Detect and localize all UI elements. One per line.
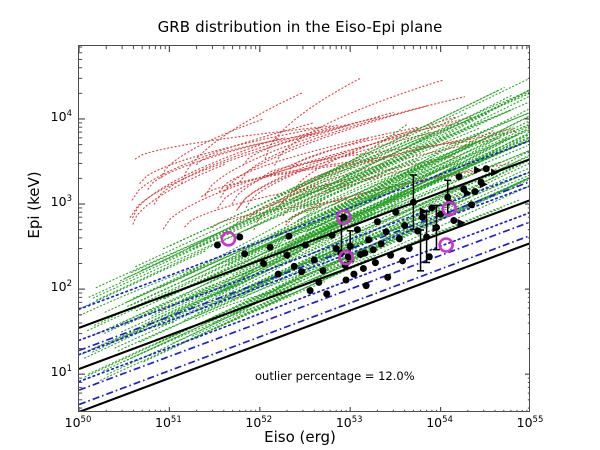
y-tick-label-4: 104 (0, 109, 72, 124)
x-axis-title: Eiso (erg) (0, 428, 600, 446)
y-tick-label-1: 101 (0, 364, 72, 379)
figure-canvas: GRB distribution in the Eiso-Epi plane 1… (0, 0, 600, 450)
outlier-percentage-annotation: outlier percentage = 12.0% (255, 369, 415, 383)
y-axis-title: Epi (keV) (25, 125, 43, 285)
